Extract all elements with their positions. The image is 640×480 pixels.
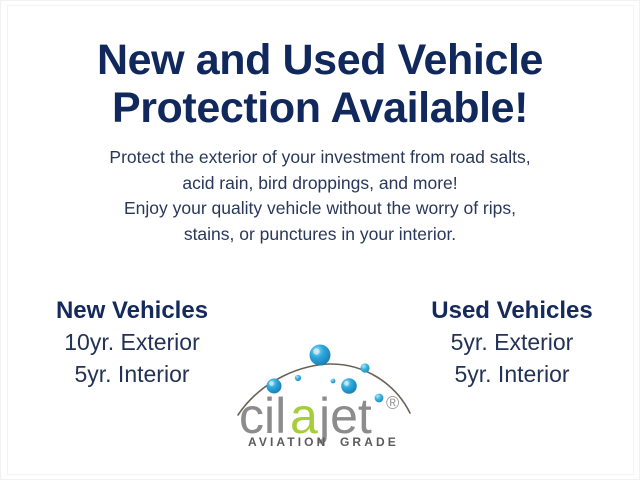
- logo-tagline: AVIATION GRADE: [248, 435, 399, 449]
- column-title-new-vehicles: New Vehicles: [7, 296, 257, 326]
- registered-trademark-icon: ®: [386, 393, 399, 413]
- body-line-3: Enjoy your quality vehicle without the w…: [0, 196, 640, 222]
- body-copy: Protect the exterior of your investment …: [0, 145, 640, 247]
- used-vehicles-interior-term: 5yr. Interior: [387, 358, 637, 390]
- body-line-2: acid rain, bird droppings, and more!: [0, 171, 640, 197]
- new-vehicles-exterior-term: 10yr. Exterior: [7, 326, 257, 358]
- body-line-1: Protect the exterior of your investment …: [0, 145, 640, 171]
- logo-tagline-aviation: AVIATION: [248, 435, 328, 449]
- column-title-used-vehicles: Used Vehicles: [387, 296, 637, 326]
- headline-line-2: Protection Available!: [0, 84, 640, 132]
- logo-tagline-grade: GRADE: [340, 435, 399, 449]
- used-vehicles-exterior-term: 5yr. Exterior: [387, 326, 637, 358]
- new-vehicles-interior-term: 5yr. Interior: [7, 358, 257, 390]
- page-title: New and Used Vehicle Protection Availabl…: [0, 36, 640, 132]
- coverage-column-new-vehicles: New Vehicles 10yr. Exterior 5yr. Interio…: [7, 296, 257, 390]
- headline-line-1: New and Used Vehicle: [0, 36, 640, 84]
- promo-slide: New and Used Vehicle Protection Availabl…: [0, 0, 640, 480]
- coverage-column-used-vehicles: Used Vehicles 5yr. Exterior 5yr. Interio…: [387, 296, 637, 390]
- body-line-4: stains, or punctures in your interior.: [0, 222, 640, 248]
- cilajet-logo: cil a jet ® AVIATION GRADE: [236, 341, 412, 449]
